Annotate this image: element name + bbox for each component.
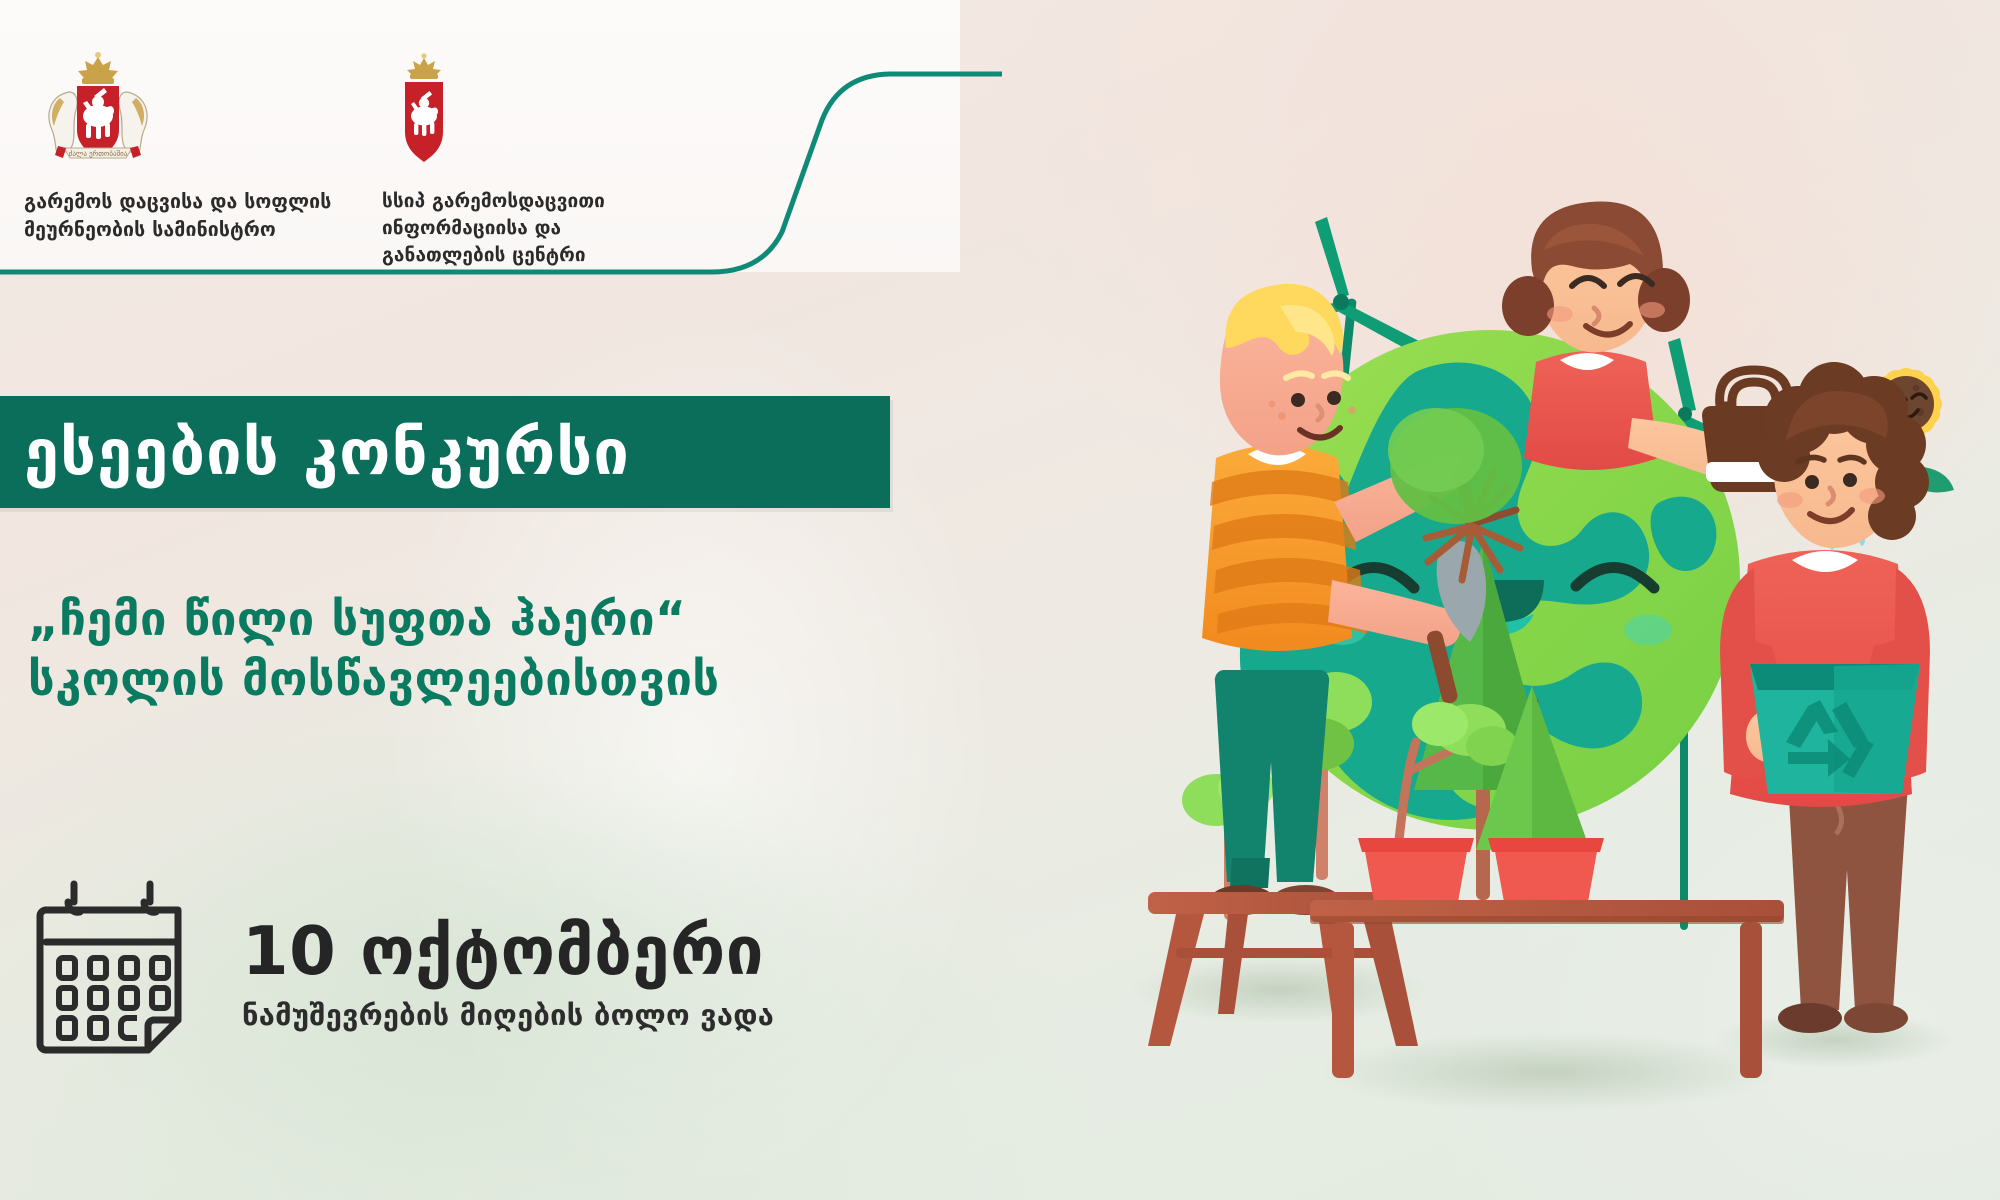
logo-ministry: ძალა ერთობაშია გარემოს დაცვისა და სოფლის… xyxy=(24,52,354,243)
logo-ministry-caption: გარემოს დაცვისა და სოფლის მეურნეობის სამ… xyxy=(24,188,354,243)
subtitle-line-1: „ჩემი წილი სუფთა ჰაერი“ xyxy=(28,590,948,650)
calendar-icon xyxy=(30,880,208,1065)
georgia-shield-icon xyxy=(388,52,460,172)
logo-center-caption: სსიპ გარემოსდაცვითი ინფორმაციისა და განა… xyxy=(382,188,652,269)
deadline-date: 10 ოქტომბერი xyxy=(242,917,774,985)
date-block: 10 ოქტომბერი ნამუშევრების მიღების ბოლო ვ… xyxy=(30,880,774,1065)
subtitle-line-2: სკოლის მოსწავლეებისთვის xyxy=(28,650,948,710)
subtitle: „ჩემი წილი სუფთა ჰაერი“ სკოლის მოსწავლეე… xyxy=(28,590,948,710)
date-text-group: 10 ოქტომბერი ნამუშევრების მიღების ბოლო ვ… xyxy=(242,913,774,1032)
eco-children-planet-illustration xyxy=(1120,110,2000,1120)
recycling-bin-icon xyxy=(1750,664,1920,794)
deadline-note: ნამუშევრების მიღების ბოლო ვადა xyxy=(242,998,774,1032)
poster-canvas: ძალა ერთობაშია გარემოს დაცვისა და სოფლის… xyxy=(0,0,2000,1200)
svg-text:ძალა ერთობაშია: ძალა ერთობაშია xyxy=(69,149,128,158)
logo-center: სსიპ გარემოსდაცვითი ინფორმაციისა და განა… xyxy=(382,52,652,269)
title-bar: ესეების კონკურსი xyxy=(0,396,890,508)
page-title: ესეების კონკურსი xyxy=(0,421,630,484)
georgia-coat-of-arms-icon: ძალა ერთობაშია xyxy=(36,52,160,172)
